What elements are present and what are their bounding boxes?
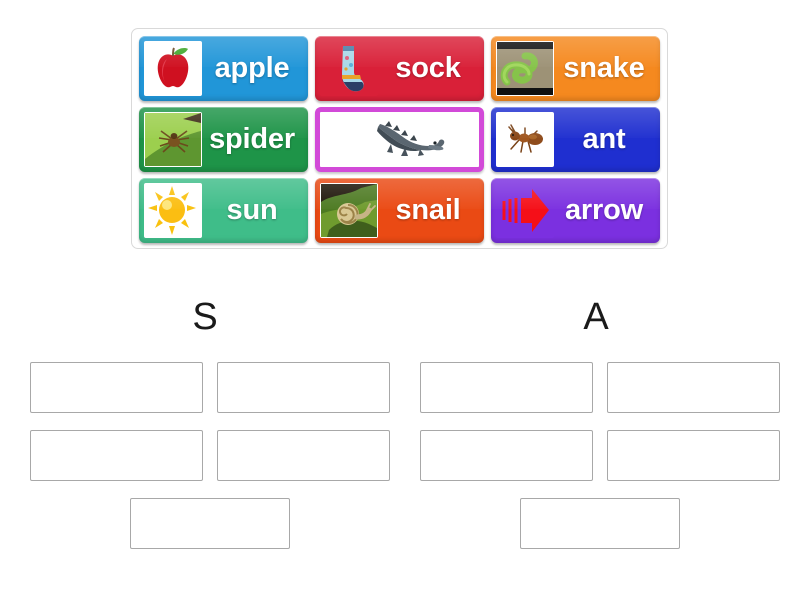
tile-alligator[interactable] <box>315 107 484 172</box>
snake-icon <box>496 41 554 96</box>
tile-label: spider <box>202 125 308 154</box>
word-tile-tray: apple sock <box>131 28 668 249</box>
tile-spider[interactable]: spider <box>139 107 308 172</box>
drop-slot-s-3[interactable] <box>30 430 203 481</box>
drop-slot-s-1[interactable] <box>30 362 203 413</box>
ant-icon <box>496 112 554 167</box>
tile-ant[interactable]: ant <box>491 107 660 172</box>
tile-row: apple sock <box>139 36 661 101</box>
tile-arrow[interactable]: arrow <box>491 178 660 243</box>
tile-label: ant <box>554 125 660 154</box>
sun-icon <box>144 183 202 238</box>
tile-sun[interactable]: sun <box>139 178 308 243</box>
drop-slot-s-4[interactable] <box>217 430 390 481</box>
apple-icon <box>144 41 202 96</box>
arrow-icon <box>496 183 554 238</box>
drop-row <box>420 362 780 413</box>
tile-apple[interactable]: apple <box>139 36 308 101</box>
drop-slot-s-5[interactable] <box>130 498 290 549</box>
drop-group-s <box>30 362 390 552</box>
drop-slot-a-4[interactable] <box>607 430 780 481</box>
drop-row <box>420 498 780 549</box>
tile-label: sock <box>378 54 484 83</box>
drop-row <box>30 498 390 549</box>
sock-icon <box>320 41 378 96</box>
tile-snake[interactable]: snake <box>491 36 660 101</box>
tile-row: spider <box>139 107 661 172</box>
drop-slot-a-1[interactable] <box>420 362 593 413</box>
snail-icon <box>320 183 378 238</box>
tile-label: arrow <box>554 196 660 225</box>
drop-row <box>30 362 390 413</box>
drop-slot-a-3[interactable] <box>420 430 593 481</box>
tile-label: sun <box>202 196 308 225</box>
drop-row <box>30 430 390 481</box>
drop-group-a <box>420 362 780 552</box>
tile-label: snake <box>554 54 660 83</box>
group-heading-a: A <box>536 298 656 336</box>
drop-slot-a-2[interactable] <box>607 362 780 413</box>
alligator-icon <box>320 112 479 167</box>
drop-row <box>420 430 780 481</box>
spider-icon <box>144 112 202 167</box>
tile-snail[interactable]: snail <box>315 178 484 243</box>
drop-slot-s-2[interactable] <box>217 362 390 413</box>
tile-label: apple <box>202 54 308 83</box>
tile-label: snail <box>378 196 484 225</box>
tile-sock[interactable]: sock <box>315 36 484 101</box>
group-heading-s: S <box>145 298 265 336</box>
drop-slot-a-5[interactable] <box>520 498 680 549</box>
tile-row: sun snail <box>139 178 661 243</box>
